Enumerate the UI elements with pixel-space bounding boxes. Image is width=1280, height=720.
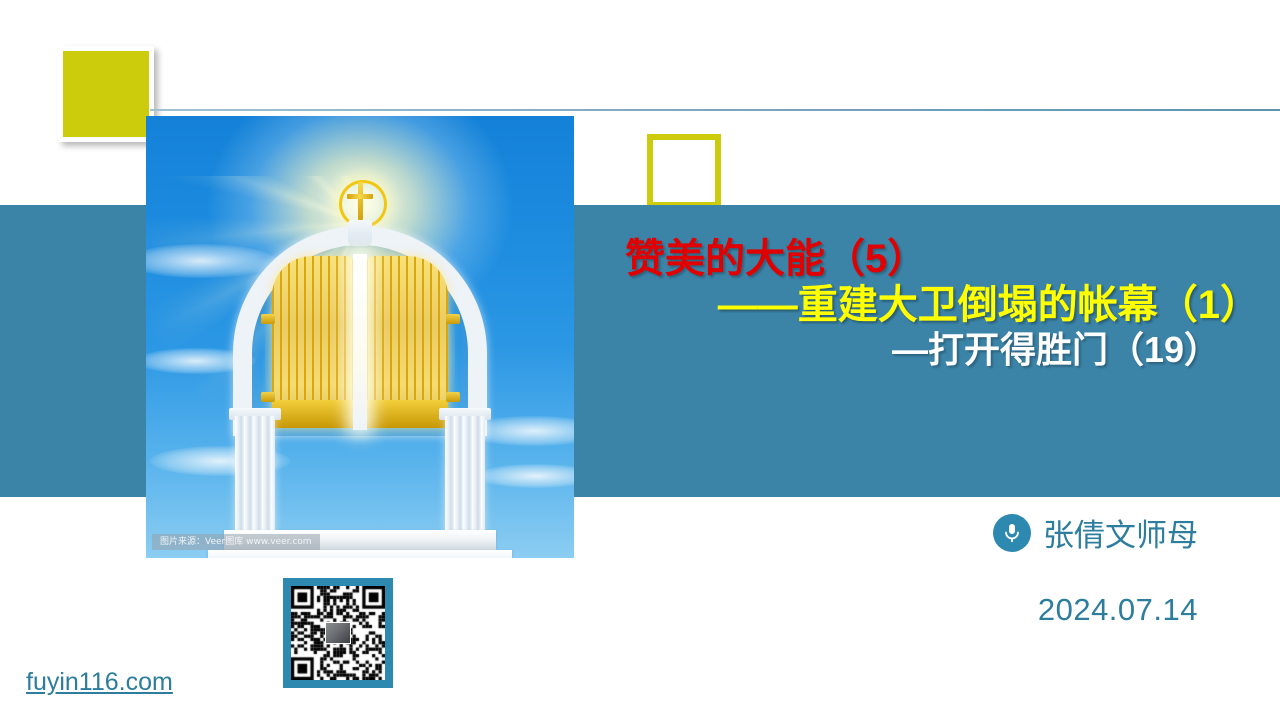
speaker-name: 张倩文师母 [1043, 510, 1198, 555]
presentation-date: 2024.07.14 [1038, 592, 1198, 628]
gate-opening-light [353, 254, 367, 430]
marble-step [208, 550, 512, 558]
qr-code[interactable] [283, 578, 393, 688]
qr-code-matrix [291, 586, 385, 680]
decorative-horizontal-rule [150, 109, 1280, 111]
heavenly-gate-photo: 图片来源：Veer图库 www.veer.com [146, 116, 574, 558]
marble-column [235, 416, 275, 534]
title-line-3: —打开得胜门（19） [600, 329, 1260, 371]
microphone-icon [993, 514, 1031, 552]
title-line-1: 赞美的大能（5） [600, 236, 1260, 282]
gate-hinge [261, 392, 275, 402]
presentation-slide: 图片来源：Veer图库 www.veer.com 赞美的大能（5） ——重建大卫… [0, 0, 1280, 720]
marble-column [445, 416, 485, 534]
photo-watermark: 图片来源：Veer图库 www.veer.com [152, 534, 320, 550]
website-link[interactable]: fuyin116.com [26, 668, 173, 697]
gate-hinge [446, 314, 460, 324]
decorative-outlined-square [647, 134, 721, 208]
slide-title: 赞美的大能（5） ——重建大卫倒塌的帐幕（1） —打开得胜门（19） [600, 236, 1260, 371]
gate-hinge [446, 392, 460, 402]
decorative-filled-square [58, 46, 154, 142]
speaker-row: 张倩文师母 [993, 510, 1198, 555]
gate-door-base-right [366, 400, 448, 428]
gate-hinge [261, 314, 275, 324]
arch-keystone [348, 220, 372, 246]
cross-icon-bar [347, 194, 373, 199]
gate-door-base-left [272, 400, 354, 428]
title-line-2: ——重建大卫倒塌的帐幕（1） [600, 282, 1260, 328]
qr-code-center-logo [325, 622, 351, 644]
cross-icon [358, 182, 363, 220]
